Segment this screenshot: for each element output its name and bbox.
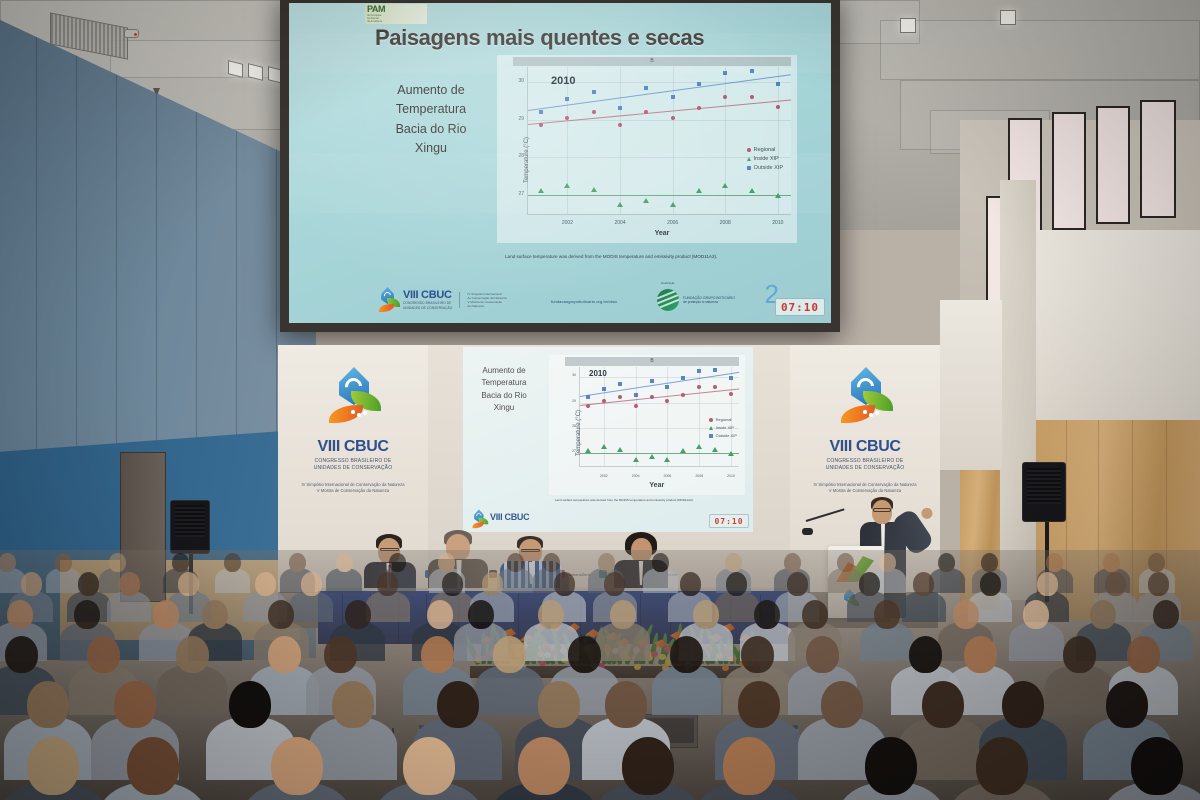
data-point	[665, 385, 669, 389]
audience-head	[605, 681, 647, 728]
secondary-projection: Aumento de Temperatura Bacia do Rio Xing…	[463, 347, 753, 532]
audience-head	[1002, 681, 1044, 728]
audience-head	[127, 737, 179, 795]
audience-head	[1148, 553, 1165, 572]
legend-label: Outside XIP	[716, 433, 737, 438]
audience-head	[493, 636, 526, 673]
slide-footer: VIII CBUC CONGRESSO BRASILEIRO DE UNIDAD…	[289, 273, 831, 319]
audience-head	[336, 553, 353, 572]
grid-line	[620, 67, 621, 214]
grid-line	[567, 67, 568, 214]
audience-head	[538, 681, 580, 728]
ipam-acronym: PAM	[365, 5, 385, 14]
legend-item: Inside XIP	[747, 156, 783, 162]
y-tick-label: 29	[556, 400, 576, 404]
banner-title: VIII CBUC	[829, 439, 900, 455]
audience-head	[604, 572, 625, 596]
data-point	[601, 444, 607, 449]
data-point	[644, 86, 648, 90]
data-point	[602, 387, 606, 391]
audience-head	[114, 681, 156, 728]
timer-digits: 07:10	[781, 301, 819, 314]
data-point	[538, 188, 544, 193]
audience-head	[437, 681, 479, 728]
slide-title: Paisagens mais quentes e secas	[375, 25, 704, 51]
legend-label: Inside XIP	[754, 156, 779, 162]
data-point	[723, 71, 727, 75]
x-tick-label: 2008	[720, 221, 731, 226]
audience-head	[1127, 636, 1160, 673]
audience-head	[427, 600, 453, 629]
y-tick-label: 30	[504, 79, 524, 84]
x-tick-label: 2008	[695, 475, 703, 479]
grid-line	[699, 367, 700, 466]
x-tick-label: 2006	[667, 221, 678, 226]
ceiling-light	[900, 18, 916, 33]
wall-right-white	[1036, 230, 1200, 420]
audience-head	[172, 553, 189, 572]
audience-head	[1103, 553, 1120, 572]
audience-member	[490, 736, 599, 800]
legend-item: Regional	[747, 147, 783, 153]
data-point	[697, 369, 701, 373]
audience-head	[74, 600, 100, 629]
subtitle-line: Aumento de	[377, 81, 485, 100]
screen-surface: PAM de Pesquisa Ambiental da Amazônia Pa…	[289, 3, 831, 323]
wall-right-mid	[940, 300, 1002, 470]
audience-head	[953, 600, 979, 629]
audience-head	[178, 572, 199, 596]
audience-member	[593, 736, 702, 800]
data-point	[729, 376, 733, 380]
main-projection-screen: PAM de Pesquisa Ambiental da Amazônia Pa…	[280, 0, 840, 332]
x-tick-label: 2006	[664, 475, 672, 479]
trend-line	[580, 453, 739, 454]
ipam-subline: da Amazônia	[365, 20, 385, 23]
audience-head	[784, 553, 801, 572]
legend-marker	[747, 157, 751, 161]
audience-head	[202, 600, 228, 629]
slide-caption: Land surface temperature was derived fro…	[505, 254, 805, 260]
audience-head	[543, 553, 560, 572]
cbuc-footer-title: VIII CBUC	[403, 290, 452, 301]
data-point	[539, 123, 543, 127]
audience-head	[693, 600, 719, 629]
data-point	[750, 69, 754, 73]
audience-head	[1105, 572, 1126, 596]
data-point	[618, 382, 622, 386]
chart-panel-label: B	[513, 57, 791, 66]
audience-head	[938, 553, 955, 572]
data-point	[723, 95, 727, 99]
audience-head	[255, 572, 276, 596]
audience-head	[268, 600, 294, 629]
cbuc-side-line: da Natureza	[467, 304, 506, 308]
data-point	[776, 82, 780, 86]
audience-head	[981, 553, 998, 572]
audience-head	[1090, 600, 1116, 629]
audience-head	[680, 572, 701, 596]
audience-member	[694, 736, 803, 800]
audience-member	[948, 736, 1057, 800]
loudspeaker-left	[170, 500, 210, 554]
audience-head	[507, 553, 524, 572]
audience-head	[670, 636, 703, 673]
legend-marker	[709, 418, 713, 422]
audience-head	[109, 553, 126, 572]
x-tick-label: 2010	[727, 475, 735, 479]
back-cbuc-logo: VIII CBUC	[471, 507, 529, 526]
audience-head	[5, 636, 38, 673]
audience-head	[787, 572, 808, 596]
audience-head	[229, 681, 271, 728]
data-point	[643, 198, 649, 203]
x-tick-label: 2010	[772, 221, 783, 226]
audience-head	[224, 553, 241, 572]
banner-sub2-line: V Mostra de Conservação da Natureza	[301, 488, 404, 494]
chart-legend: RegionalInside XIPOutside XIP	[747, 147, 783, 174]
audience-head	[7, 600, 33, 629]
audience-head	[980, 572, 1001, 596]
data-point	[592, 110, 596, 114]
data-point	[750, 95, 754, 99]
audience-head	[1023, 600, 1049, 629]
y-tick-label: 28	[556, 425, 576, 429]
banner-sub-line: UNIDADES DE CONSERVAÇÃO	[314, 465, 393, 472]
legend-marker	[709, 426, 713, 430]
smoke-detector-icon	[124, 29, 139, 38]
ceiling-light	[1000, 10, 1016, 25]
legend-marker	[747, 166, 751, 170]
legend-item: Outside XIP	[709, 433, 737, 438]
legend-item: Regional	[709, 417, 737, 422]
data-point	[696, 444, 702, 449]
audience-head	[377, 572, 398, 596]
audience-head	[754, 600, 780, 629]
back-annotation-year: 2010	[589, 369, 607, 378]
audience-head	[568, 636, 601, 673]
audience-head	[87, 636, 120, 673]
audience-head	[913, 572, 934, 596]
back-subtitle: Aumento de Temperatura Bacia do Rio Xing…	[469, 365, 539, 415]
audience-head	[1153, 600, 1179, 629]
audience-member	[374, 736, 483, 800]
data-point	[696, 188, 702, 193]
audience-head	[622, 737, 674, 795]
subtitle-line: Bacia do Rio	[377, 120, 485, 139]
banner-sub2-line: IV Simpósio Internacional de Conservação…	[301, 482, 404, 488]
audience-member	[1102, 736, 1200, 800]
data-point	[618, 106, 622, 110]
audience-head	[289, 553, 306, 572]
audience-head	[909, 636, 942, 673]
trend-line	[528, 195, 791, 196]
audience-head	[859, 572, 880, 596]
banner-title: VIII CBUC	[317, 439, 388, 455]
clerestory-window	[1140, 100, 1176, 218]
subtitle-line: Xingu	[377, 139, 485, 158]
back-chart-legend: RegionalInside XIPOutside XIP	[709, 417, 737, 441]
data-point	[634, 393, 638, 397]
data-point	[618, 395, 622, 399]
audience-head	[652, 553, 669, 572]
data-point	[713, 368, 717, 372]
cbuc-logo-icon	[837, 367, 893, 431]
audience-head	[176, 636, 209, 673]
audience-head	[1063, 636, 1096, 673]
data-point	[664, 457, 670, 462]
legend-label: Regional	[754, 147, 776, 153]
data-point	[592, 90, 596, 94]
y-tick-label: 27	[556, 450, 576, 454]
slide-subtitle: Aumento de Temperatura Bacia do Rio Xing…	[377, 81, 485, 159]
data-point	[671, 95, 675, 99]
data-point	[670, 202, 676, 207]
data-point	[586, 404, 590, 408]
chart-plot-area: 2002200420062008201027282930	[527, 67, 791, 215]
data-point	[713, 385, 717, 389]
legend-label: Inside XIP	[716, 425, 734, 430]
audience-head	[922, 681, 964, 728]
loudspeaker-right	[1022, 462, 1066, 522]
data-point	[564, 183, 570, 188]
legend-marker	[747, 148, 751, 152]
chart-y-axis-title: Temperature (°C)	[524, 137, 530, 183]
audience	[0, 550, 1200, 800]
audience-head	[389, 553, 406, 572]
auditorium-scene: PAM de Pesquisa Ambiental da Amazônia Pa…	[0, 0, 1200, 800]
fundacao-globe-icon	[657, 289, 679, 311]
data-point	[728, 451, 734, 456]
audience-head	[1106, 681, 1148, 728]
water-droplet-icon	[377, 287, 399, 313]
data-point	[565, 97, 569, 101]
data-point	[697, 385, 701, 389]
audience-head	[874, 600, 900, 629]
data-point	[722, 183, 728, 188]
data-point	[749, 188, 755, 193]
audience-head	[332, 681, 374, 728]
back-chart-label: B	[565, 357, 739, 366]
grid-line	[725, 67, 726, 214]
divider	[459, 292, 460, 308]
data-point	[618, 123, 622, 127]
data-point	[697, 82, 701, 86]
data-point	[650, 379, 654, 383]
data-point	[633, 457, 639, 462]
audience-head	[806, 636, 839, 673]
column-right	[1000, 180, 1036, 600]
audience-head	[21, 572, 42, 596]
subtitle-line: Bacia do Rio	[469, 390, 539, 402]
audience-head	[78, 572, 99, 596]
audience-head	[976, 737, 1028, 795]
footer-url: fundacaogrupoboticario.org.br/cbuc	[551, 299, 617, 304]
legend-label: Outside XIP	[754, 165, 783, 171]
x-tick-label: 2002	[562, 221, 573, 226]
grid-line	[636, 367, 637, 466]
banner-sub-line: UNIDADES DE CONSERVAÇÃO	[826, 465, 905, 472]
podium-microphone	[802, 528, 813, 535]
realizacao-label: Realização	[661, 281, 675, 285]
data-point	[539, 110, 543, 114]
audience-member	[242, 736, 351, 800]
data-point	[776, 105, 780, 109]
audience-head	[55, 553, 72, 572]
data-point	[586, 395, 590, 399]
audience-head	[301, 572, 322, 596]
audience-member	[0, 736, 108, 800]
back-cbuc-title: VIII CBUC	[490, 512, 529, 522]
data-point	[617, 447, 623, 452]
legend-item: Inside XIP	[709, 425, 737, 430]
back-chart: B 2002200420062008201027282930 Temperatu…	[549, 355, 745, 495]
audience-head	[741, 636, 774, 673]
data-point	[680, 448, 686, 453]
audience-member	[98, 736, 207, 800]
grid-line	[604, 367, 605, 466]
audience-head	[153, 600, 179, 629]
audience-head	[438, 553, 455, 572]
slide-chart: B 2002200420062008201027282930 Temperatu…	[497, 55, 797, 243]
back-caption: Land surface temperature was derived fro…	[555, 499, 745, 503]
audience-head	[837, 553, 854, 572]
audience-head	[610, 600, 636, 629]
y-tick-label: 30	[556, 374, 576, 378]
cbuc-footer-logo: VIII CBUC CONGRESSO BRASILEIRO DE UNIDAD…	[377, 287, 507, 313]
audience-head	[468, 600, 494, 629]
audience-head	[1131, 737, 1183, 795]
audience-head	[554, 572, 575, 596]
legend-marker	[709, 434, 713, 438]
back-x-axis-title: Year	[649, 482, 664, 489]
data-point	[585, 448, 591, 453]
data-point	[681, 393, 685, 397]
audience-head	[0, 553, 16, 572]
back-timer-digits: 07:10	[714, 517, 743, 526]
back-y-axis-title: Temperature (°C)	[576, 410, 582, 456]
y-tick-label: 29	[504, 117, 524, 122]
subtitle-line: Xingu	[469, 402, 539, 414]
audience-head	[723, 737, 775, 795]
ipam-logo: PAM de Pesquisa Ambiental da Amazônia	[365, 4, 427, 24]
audience-head	[345, 600, 371, 629]
audience-head	[27, 737, 79, 795]
data-point	[671, 116, 675, 120]
audience-head	[821, 681, 863, 728]
y-tick-label: 27	[504, 192, 524, 197]
data-point	[634, 404, 638, 408]
audience-head	[119, 572, 140, 596]
audience-head	[1148, 572, 1169, 596]
back-countdown-timer: 07:10	[709, 514, 749, 528]
audience-head	[518, 737, 570, 795]
x-tick-label: 2002	[600, 475, 608, 479]
data-point	[729, 392, 733, 396]
audience-head	[802, 600, 828, 629]
audience-head	[738, 681, 780, 728]
audience-head	[442, 572, 463, 596]
data-point	[775, 193, 781, 198]
audience-head	[1037, 572, 1058, 596]
water-droplet-icon	[471, 509, 483, 523]
grid-line	[673, 67, 674, 214]
banner-sub2-line: V Mostra de Conservação da Natureza	[813, 488, 916, 494]
data-point	[591, 187, 597, 192]
subtitle-line: Aumento de	[469, 365, 539, 377]
fundacao-line: de proteção à natureza	[683, 300, 735, 305]
audience-head	[482, 572, 503, 596]
audience-head	[403, 737, 455, 795]
subtitle-line: Temperatura	[377, 100, 485, 119]
data-point	[650, 395, 654, 399]
data-point	[649, 454, 655, 459]
chart-annotation-year: 2010	[551, 75, 575, 87]
countdown-timer: 07:10	[775, 298, 825, 316]
audience-head	[879, 553, 896, 572]
audience-head	[598, 553, 615, 572]
chart-x-axis-title: Year	[655, 230, 670, 237]
audience-head	[538, 600, 564, 629]
audience-head	[725, 553, 742, 572]
data-point	[617, 202, 623, 207]
slide-content: PAM de Pesquisa Ambiental da Amazônia Pa…	[289, 3, 831, 323]
clerestory-window	[1096, 106, 1130, 224]
x-tick-label: 2004	[614, 221, 625, 226]
legend-item: Outside XIP	[747, 165, 783, 171]
audience-head	[726, 572, 747, 596]
audience-head	[964, 636, 997, 673]
cbuc-footer-sub: UNIDADES DE CONSERVAÇÃO	[403, 307, 452, 310]
clerestory-window	[1052, 112, 1086, 230]
subtitle-line: Temperatura	[469, 377, 539, 389]
audience-head	[865, 737, 917, 795]
audience-head	[27, 681, 69, 728]
legend-label: Regional	[716, 417, 732, 422]
audience-head	[421, 636, 454, 673]
audience-head	[1046, 553, 1063, 572]
audience-head	[268, 636, 301, 673]
audience-head	[271, 737, 323, 795]
data-point	[681, 376, 685, 380]
x-tick-label: 2004	[632, 475, 640, 479]
audience-head	[324, 636, 357, 673]
data-point	[697, 106, 701, 110]
banner-sub2-line: IV Simpósio Internacional de Conservação…	[813, 482, 916, 488]
y-tick-label: 28	[504, 154, 524, 159]
cbuc-logo-icon	[325, 367, 381, 431]
data-point	[712, 447, 718, 452]
audience-member	[837, 736, 946, 800]
